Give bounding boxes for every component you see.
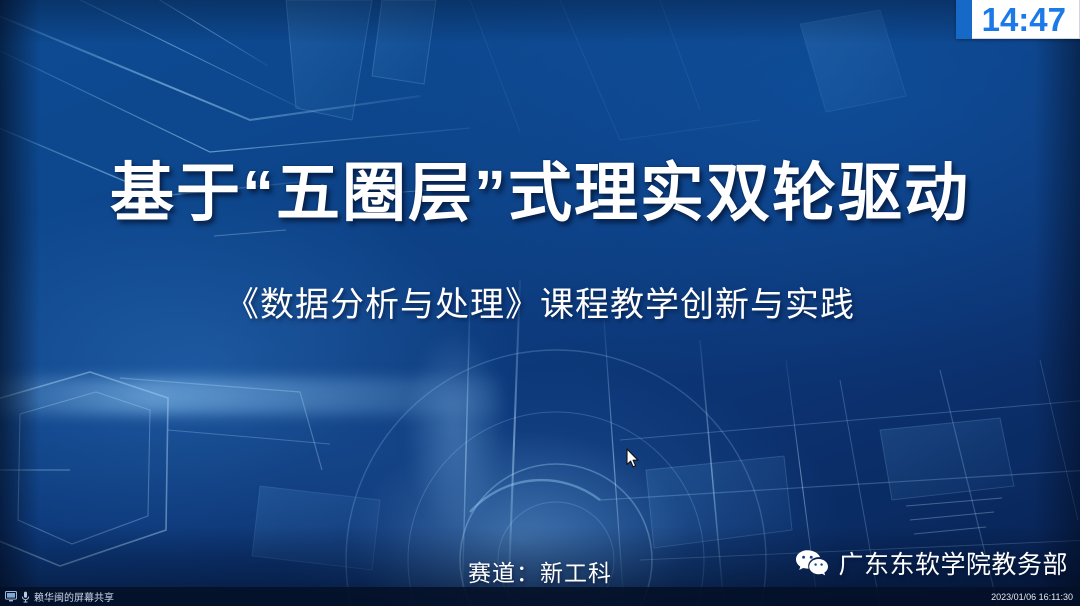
screen-share-owner-label: 赖华闽的屏幕共享	[34, 589, 114, 604]
presentation-slide: 基于“五圈层”式理实双轮驱动 《数据分析与处理》课程教学创新与实践 赛道：新工科…	[0, 0, 1080, 606]
statusbar-left-group: 赖华闽的屏幕共享	[5, 589, 114, 604]
meeting-timer[interactable]: 14:47	[956, 0, 1080, 39]
wechat-icon	[795, 549, 829, 578]
screen-share-statusbar: 赖华闽的屏幕共享 2023/01/06 16:11:30	[0, 587, 1080, 606]
statusbar-timestamp: 2023/01/06 16:11:30	[991, 592, 1075, 602]
microphone-icon[interactable]	[21, 591, 30, 603]
light-streak	[0, 378, 500, 414]
timer-face: 14:47	[972, 0, 1080, 39]
wechat-account-badge: 广东东软学院教务部	[795, 545, 1068, 581]
wechat-account-name: 广东东软学院教务部	[838, 545, 1068, 581]
slide-subtitle: 《数据分析与处理》课程教学创新与实践	[0, 277, 1080, 326]
slide-title: 基于“五圈层”式理实双轮驱动	[0, 158, 1080, 230]
monitor-icon[interactable]	[5, 591, 17, 602]
timer-accent-bar	[956, 0, 972, 39]
center-glow	[380, 300, 530, 560]
timer-value: 14:47	[982, 3, 1066, 36]
screen-share-viewport: 基于“五圈层”式理实双轮驱动 《数据分析与处理》课程教学创新与实践 赛道：新工科…	[0, 0, 1080, 606]
